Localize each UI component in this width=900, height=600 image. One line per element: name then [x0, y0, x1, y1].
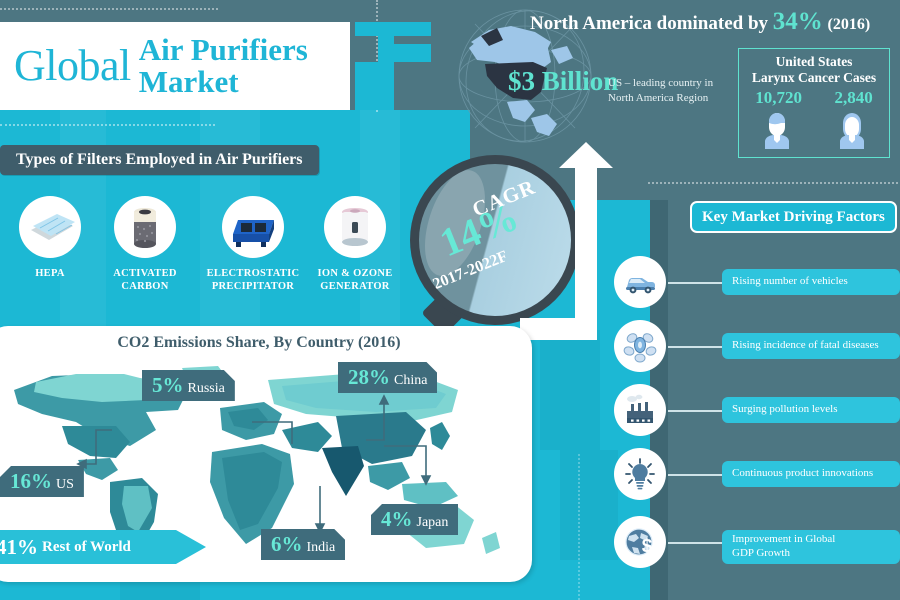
co2-name-russia: Russia	[188, 381, 225, 396]
co2-callout-us: 16% US	[0, 466, 84, 497]
co2-pct-us: 16%	[10, 469, 52, 493]
dotted-divider-right	[648, 182, 898, 184]
title-line-1: Air Purifiers	[139, 34, 308, 66]
larynx-avatars	[739, 109, 889, 149]
driver-pill-1[interactable]: Rising number of vehicles	[722, 269, 900, 295]
electrostatic-precipitator-icon	[222, 196, 284, 258]
male-avatar-icon	[759, 109, 795, 149]
infographic-root: Global Air Purifiers Market Types of Fil…	[0, 0, 900, 600]
driver-connector-5	[668, 542, 724, 544]
co2-name-china: China	[394, 373, 427, 388]
dotted-divider-lower	[578, 454, 580, 600]
co2-name-india: India	[307, 540, 336, 555]
decor-bracket-body	[355, 62, 394, 110]
decor-bracket-arm	[378, 44, 431, 62]
larynx-female-cases: 2,840	[835, 88, 873, 108]
filter-label-line1: ELECTROSTATIC	[207, 268, 300, 279]
filter-label-electrostatic: ELECTROSTATIC PRECIPITATOR	[203, 268, 303, 293]
co2-callout-russia: 5% Russia	[142, 370, 235, 401]
growth-arrow-stem	[575, 160, 597, 340]
filter-label-line2: CARBON	[121, 281, 168, 292]
magnifier-glass: CAGR 14% 2017-2022F	[419, 164, 571, 316]
larynx-title: United States Larynx Cancer Cases	[739, 54, 889, 85]
magnifying-glass-icon: CAGR 14% 2017-2022F	[410, 155, 580, 325]
driver-pill-5[interactable]: Improvement in Global GDP Growth	[722, 530, 900, 564]
larynx-title-line1: United States	[776, 54, 853, 69]
co2-pct-japan: 4%	[381, 507, 413, 531]
filter-item-hepa[interactable]: HEPA	[0, 196, 100, 281]
na-market-value: $3 Billion	[508, 66, 618, 97]
drivers-heading: Key Market Driving Factors	[690, 201, 897, 233]
driver-connector-2	[668, 346, 724, 348]
title-card: Global Air Purifiers Market	[0, 22, 350, 110]
filter-label-ion-ozone: ION & OZONE GENERATOR	[305, 268, 405, 293]
filters-group: HEPA ACTIVATED CAR	[0, 196, 420, 316]
co2-name-japan: Japan	[417, 515, 449, 530]
co2-callout-china: 28% China	[338, 362, 437, 393]
co2-name-row: Rest of World	[42, 539, 131, 556]
na-headline-prefix: North America dominated by	[530, 13, 768, 34]
co2-panel-title: CO2 Emissions Share, By Country (2016)	[0, 334, 532, 352]
decor-bracket-top	[355, 22, 431, 36]
na-note: US – leading country in North America Re…	[608, 76, 728, 106]
larynx-numbers: 10,720 2,840	[739, 88, 889, 108]
sheen-f	[560, 450, 618, 560]
driver-pill-4[interactable]: Continuous product innovations	[722, 461, 900, 487]
driver-pill-5-line1: Improvement in Global	[732, 533, 835, 545]
carbon-filter-icon	[114, 196, 176, 258]
svg-text:$: $	[642, 536, 653, 557]
filter-item-electrostatic[interactable]: ELECTROSTATIC PRECIPITATOR	[203, 196, 303, 293]
co2-name-us: US	[56, 477, 74, 492]
dotted-divider-mid	[0, 124, 215, 126]
globe-dollar-icon[interactable]: $	[614, 516, 666, 568]
filter-label-hepa: HEPA	[0, 268, 100, 281]
filter-item-ion-ozone[interactable]: ION & OZONE GENERATOR	[305, 196, 405, 293]
filter-label-line2: GENERATOR	[320, 281, 389, 292]
ion-ozone-generator-icon	[324, 196, 386, 258]
filter-label-line1: ACTIVATED	[113, 268, 177, 279]
na-year: (2016)	[828, 16, 871, 33]
female-avatar-icon	[834, 109, 870, 149]
growth-arrow-head	[559, 142, 613, 168]
co2-callout-rest-of-world: 41% Rest of World	[0, 530, 206, 564]
drivers-tab-notch	[672, 210, 686, 222]
north-america-headline: North America dominated by 34% (2016)	[530, 8, 870, 36]
driver-connector-3	[668, 410, 724, 412]
co2-callout-japan: 4% Japan	[371, 504, 458, 535]
co2-pct-china: 28%	[348, 365, 390, 389]
larynx-title-line2: Larynx Cancer Cases	[752, 70, 876, 85]
driver-connector-1	[668, 282, 724, 284]
factory-icon[interactable]	[614, 384, 666, 436]
co2-map-panel: CO2 Emissions Share, By Country (2016)	[0, 326, 532, 582]
driver-pill-2[interactable]: Rising incidence of fatal diseases	[722, 333, 900, 359]
driver-pill-5-line2: GDP Growth	[732, 547, 790, 559]
filter-label-line1: ION & OZONE	[317, 268, 392, 279]
larynx-male-cases: 10,720	[755, 88, 802, 108]
filter-item-activated-carbon[interactable]: ACTIVATED CARBON	[95, 196, 195, 293]
driver-pill-3[interactable]: Surging pollution levels	[722, 397, 900, 423]
na-share-value: 34%	[773, 8, 823, 35]
virus-cells-icon[interactable]	[614, 320, 666, 372]
driver-connector-4	[668, 474, 724, 476]
filter-label-line2: PRECIPITATOR	[212, 281, 294, 292]
hepa-filter-icon	[19, 196, 81, 258]
larynx-cancer-box: United States Larynx Cancer Cases 10,720…	[738, 48, 890, 158]
title-line-2: Market	[139, 66, 308, 98]
sheen-e	[540, 330, 600, 450]
co2-callout-india: 6% India	[261, 529, 345, 560]
title-global: Global	[14, 44, 131, 88]
car-icon[interactable]	[614, 256, 666, 308]
lightbulb-icon[interactable]	[614, 448, 666, 500]
co2-pct-russia: 5%	[152, 373, 184, 397]
co2-pct-india: 6%	[271, 532, 303, 556]
filter-label-activated-carbon: ACTIVATED CARBON	[95, 268, 195, 293]
dotted-divider-top	[0, 8, 218, 10]
co2-pct-row: 41%	[0, 535, 38, 560]
title-stack: Air Purifiers Market	[139, 34, 308, 97]
filters-banner: Types of Filters Employed in Air Purifie…	[0, 145, 319, 175]
